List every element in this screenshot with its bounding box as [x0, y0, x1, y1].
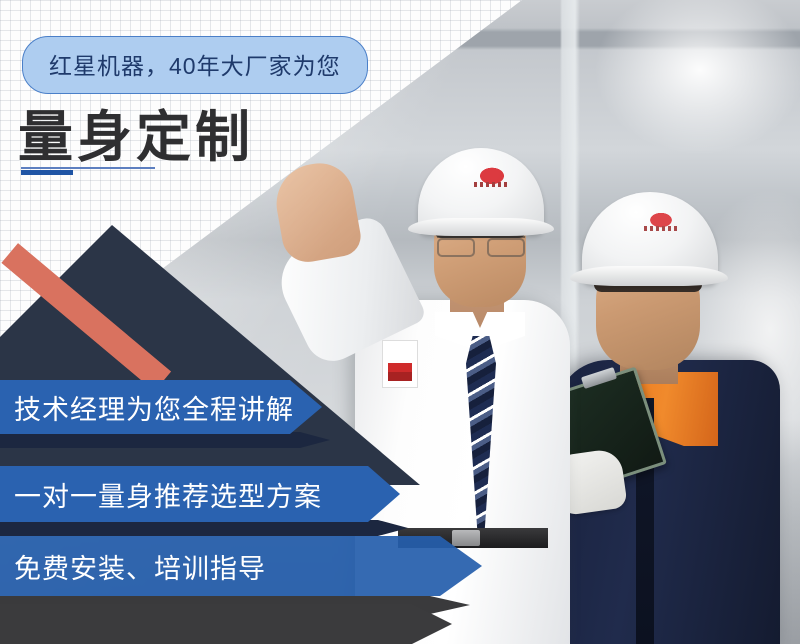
- left-worker-belt-buckle: [452, 530, 480, 546]
- eyeglasses-icon: [437, 236, 525, 254]
- promo-banner: 红星机器，40年大厂家为您 量身定制 技术经理为您全程讲解 一对一量身推荐选型方…: [0, 0, 800, 644]
- hard-hat-logo-icon: [640, 210, 682, 234]
- hard-hat-logo-icon: [470, 165, 514, 191]
- feature-bar-1-label: 技术经理为您全程讲解: [0, 388, 294, 427]
- feature-bar-2-label: 一对一量身推荐选型方案: [0, 475, 322, 514]
- left-worker-id-badge: [382, 340, 418, 388]
- feature-bar-2-shadow: [0, 520, 408, 536]
- feature-bar-2: 一对一量身推荐选型方案: [0, 466, 400, 522]
- feature-bar-1-shadow: [0, 432, 330, 448]
- left-worker-hard-hat-brim: [408, 218, 554, 236]
- headline-rule-thin: [21, 167, 155, 169]
- bottom-gray-arrow-band: [0, 604, 452, 644]
- feature-bar-3: 免费安装、培训指导: [0, 536, 482, 596]
- headline-rule-thick: [21, 170, 73, 175]
- right-worker-hard-hat-brim: [570, 266, 728, 286]
- feature-bar-1: 技术经理为您全程讲解: [0, 380, 322, 434]
- tagline-pill: 红星机器，40年大厂家为您: [22, 36, 368, 94]
- feature-bar-3-label: 免费安装、培训指导: [0, 547, 266, 586]
- page-title: 量身定制: [18, 92, 254, 172]
